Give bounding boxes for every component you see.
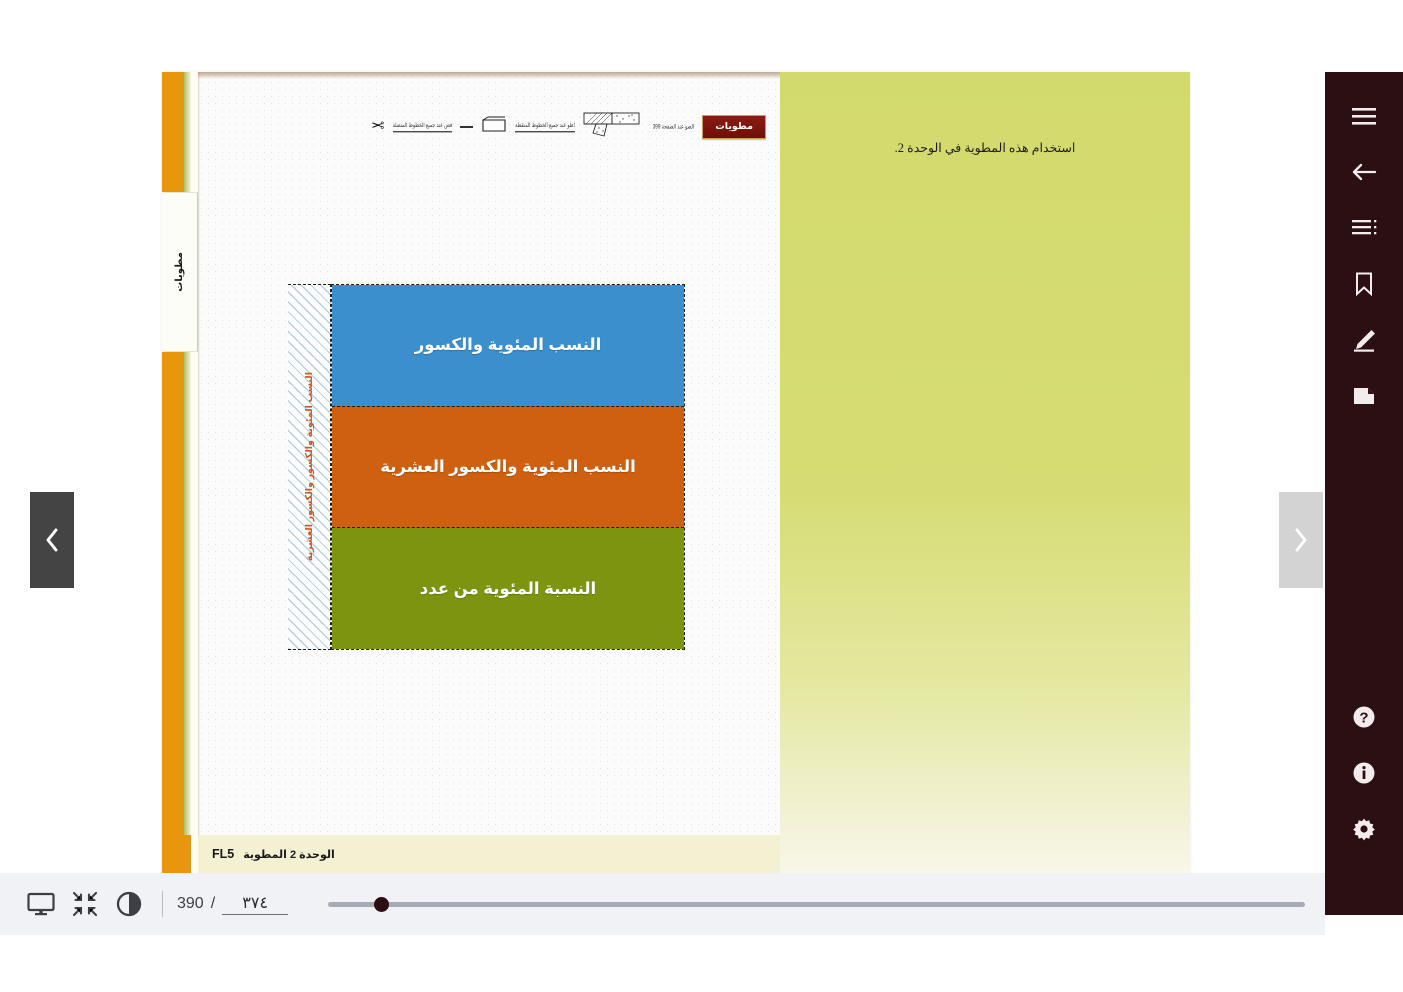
info-circle-icon[interactable] [1336,745,1392,801]
total-pages-input[interactable]: ٣٧٤ [222,893,288,915]
page-separator: / [211,895,215,913]
usage-note: استخدام هذه المطوية في الوحدة 2. [780,140,1190,156]
foldable-band: النسب المئوية والكسور [332,285,684,406]
page-footer: الوحدة 2 المطوية FL5 [198,835,780,873]
next-page-button[interactable] [1279,492,1323,588]
viewer-stage: مطويات مطويات الصو عند الصفحة 399 [0,0,1323,873]
foldables-badge: مطويات [702,115,766,139]
side-tab: مطويات [162,192,198,352]
page-scrubber-track[interactable] [328,902,1305,907]
green-note-page: استخدام هذه المطوية في الوحدة 2. [780,72,1190,873]
side-tab-label: مطويات [174,252,185,292]
fit-to-screen-icon[interactable] [68,887,102,921]
foldable-page: مطويات مطويات الصو عند الصفحة 399 [162,72,780,873]
foldable-band: النسب المئوية والكسور العشرية [332,406,684,528]
svg-text:?: ? [1359,710,1368,727]
page-footer-inner: الوحدة 2 المطوية FL5 [198,847,335,861]
page-scrubber-thumb[interactable] [374,897,389,912]
cut-instruction-3: الصو عند الصفحة 399 [653,123,694,131]
small-card-icon [481,116,507,139]
page-background-filler [0,935,1403,992]
band-label: النسب المئوية والكسور العشرية [380,457,636,477]
dash-separator [460,126,473,128]
hamburger-menu-icon[interactable] [1336,88,1392,144]
footer-spine-block [162,835,191,873]
right-toolbar-bottom-group: ? [1336,689,1392,857]
page-scrubber[interactable] [328,889,1305,919]
contrast-icon[interactable] [112,887,146,921]
page-inner-edge-shadow [198,72,200,873]
current-page-number: 390 [177,895,204,913]
page-top-shadow [198,72,780,79]
pencil-highlight-icon[interactable] [1336,312,1392,368]
band-label: النسبة المئوية من عدد [420,579,596,599]
toolbar-divider [162,891,163,917]
right-toolbar: ? [1325,72,1403,915]
bottom-toolbar: 390 / ٣٧٤ [0,873,1325,935]
footer-code: FL5 [212,847,234,861]
page-spread: مطويات مطويات الصو عند الصفحة 399 [162,72,1190,873]
foldable-band: النسبة المئوية من عدد [332,527,684,649]
band-label: النسب المئوية والكسور [415,335,602,355]
glue-strip: النسب المئوية والكسور والكسور العشرية [288,284,331,650]
cut-instruction-2: قص عند جميع الخطوط المتصلة [393,122,453,133]
cut-instruction-1: اطو عند جميع الخطوط المنقطة [515,122,575,133]
scissors-icon: ✂ [371,119,384,135]
help-circle-icon[interactable]: ? [1336,689,1392,745]
footer-unit-label: الوحدة 2 المطوية [243,848,335,861]
previous-page-button[interactable] [30,492,74,588]
right-toolbar-top-group [1336,88,1392,424]
page-indicator: 390 / ٣٧٤ [177,893,288,915]
glue-strip-label: النسب المئوية والكسور والكسور العشرية [304,372,315,561]
arrow-left-icon[interactable] [1336,144,1392,200]
presentation-screen-icon[interactable] [24,887,58,921]
foldable-diagram: النسب المئوية والكسور والكسور العشرية ال… [288,284,685,650]
gear-icon[interactable] [1336,801,1392,857]
folded-paper-icon [583,111,645,144]
ebook-reader: مطويات مطويات الصو عند الصفحة 399 [0,0,1403,992]
cut-instruction-row: مطويات الصو عند الصفحة 399 [206,110,766,144]
bookmark-icon[interactable] [1336,256,1392,312]
table-of-contents-icon[interactable] [1336,200,1392,256]
page-note-icon[interactable] [1336,368,1392,424]
foldable-bands: النسب المئوية والكسور النسب المئوية والك… [331,284,685,650]
